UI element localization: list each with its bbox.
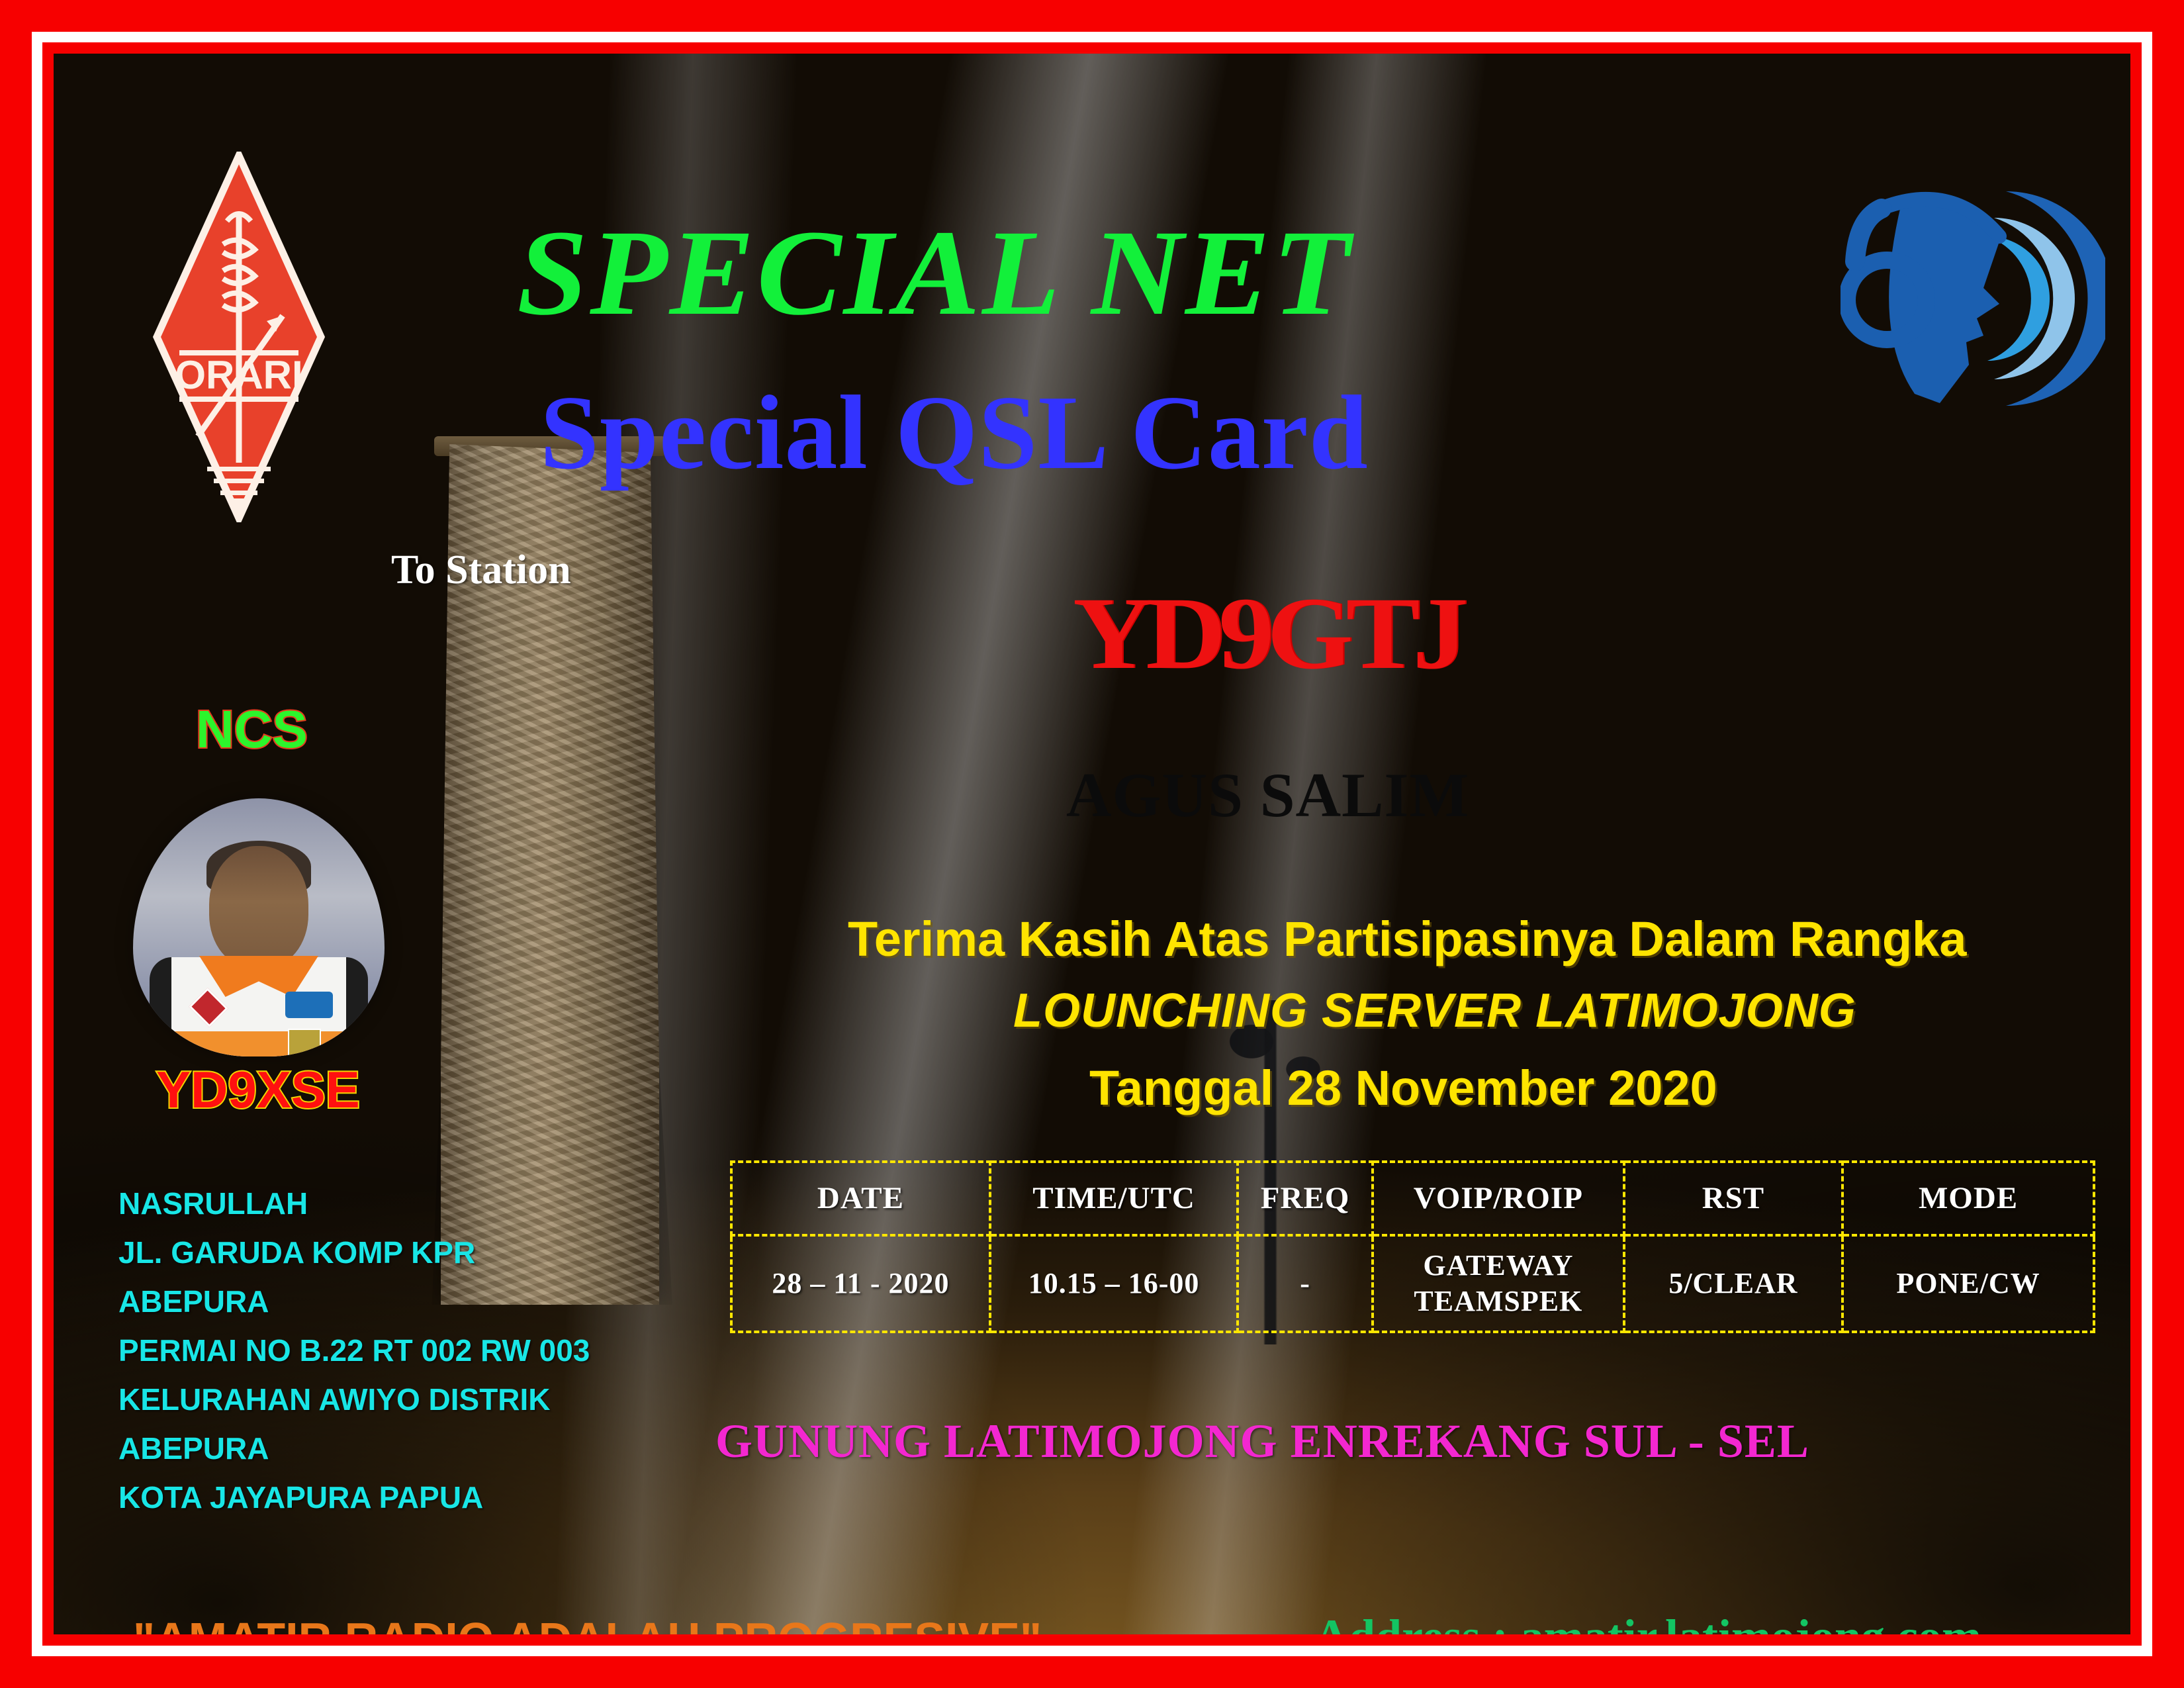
avatar-head	[209, 846, 308, 968]
cell-voip-line2: TEAMSPEK	[1374, 1284, 1623, 1319]
cell-voip: GATEWAY TEAMSPEK	[1373, 1235, 1624, 1332]
station-address: NASRULLAH JL. GARUDA KOMP KPR ABEPURA PE…	[118, 1179, 590, 1522]
thanks-line-1: Terima Kasih Atas Partisipasinya Dalam R…	[848, 911, 1966, 967]
ncs-operator-avatar	[133, 798, 385, 1056]
cell-freq: -	[1238, 1235, 1373, 1332]
address-line: JL. GARUDA KOMP KPR	[118, 1228, 590, 1277]
cell-mode: PONE/CW	[1843, 1235, 2094, 1332]
qso-log-table: DATE TIME/UTC FREQ VOIP/ROIP RST MODE 28…	[730, 1160, 2095, 1333]
address-line: KELURAHAN AWIYO DISTRIK	[118, 1375, 590, 1424]
thanks-line-2: LOUNCHING SERVER LATIMOJONG	[1013, 984, 1856, 1038]
address-line: ABEPURA	[118, 1424, 590, 1473]
operator-name: AGUS SALIM	[1066, 759, 1469, 831]
cell-time: 10.15 – 16-00	[990, 1235, 1238, 1332]
ncs-label: NCS	[196, 699, 308, 760]
orari-logo-text: ORARI	[175, 353, 302, 397]
address-line: PERMAI NO B.22 RT 002 RW 003	[118, 1326, 590, 1375]
table-row: 28 – 11 - 2020 10.15 – 16-00 - GATEWAY T…	[731, 1235, 2094, 1332]
page-subtitle: Special QSL Card	[540, 371, 1369, 494]
background-photo: ORARI	[54, 54, 2130, 1634]
thanks-line-3: Tanggal 28 November 2020	[1089, 1060, 1717, 1116]
headset-profile-logo	[1841, 179, 2105, 418]
motto-text: "AMATIR RADIO ADALAH PROGRESIVE"	[133, 1613, 1042, 1634]
qsl-card-white-gap: ORARI	[32, 32, 2152, 1656]
column-header-freq: FREQ	[1238, 1162, 1373, 1235]
column-header-voip: VOIP/ROIP	[1373, 1162, 1624, 1235]
column-header-mode: MODE	[1843, 1162, 2094, 1235]
page-title: SPECIAL NET	[517, 203, 1352, 344]
to-station-label: To Station	[391, 547, 571, 594]
website-address: Address : amatir.latimojong.com	[1314, 1609, 1981, 1634]
cell-voip-line1: GATEWAY	[1374, 1248, 1623, 1284]
qsl-card-inner-frame: ORARI	[42, 42, 2142, 1646]
recipient-callsign: YD9GTJ	[1073, 575, 1461, 693]
location-caption: GUNUNG LATIMOJONG ENREKANG SUL - SEL	[715, 1414, 1809, 1469]
address-line: KOTA JAYAPURA PAPUA	[118, 1473, 590, 1522]
avatar-id-card	[288, 1029, 321, 1056]
cell-rst: 5/CLEAR	[1624, 1235, 1843, 1332]
avatar-sash	[150, 1031, 368, 1056]
orari-logo: ORARI	[153, 152, 325, 522]
qsl-card-outer-frame: ORARI	[0, 0, 2184, 1688]
table-header-row: DATE TIME/UTC FREQ VOIP/ROIP RST MODE	[731, 1162, 2094, 1235]
avatar-badge-right	[285, 992, 333, 1018]
column-header-date: DATE	[731, 1162, 990, 1235]
column-header-rst: RST	[1624, 1162, 1843, 1235]
column-header-time: TIME/UTC	[990, 1162, 1238, 1235]
address-line: ABEPURA	[118, 1277, 590, 1326]
ncs-callsign: YD9XSE	[156, 1060, 360, 1120]
cell-date: 28 – 11 - 2020	[731, 1235, 990, 1332]
address-line: NASRULLAH	[118, 1179, 590, 1228]
